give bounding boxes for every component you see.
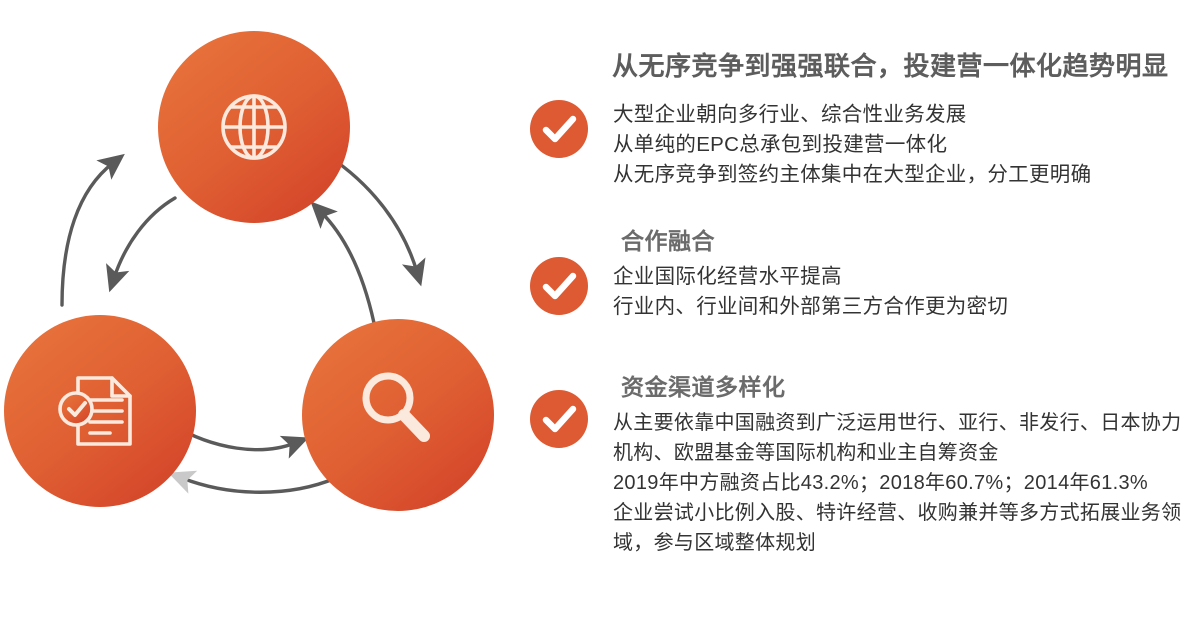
globe-icon [223, 96, 285, 158]
slide-root: 从无序竞争到强强联合，投建营一体化趋势明显 大型企业朝向多行业、综合性业务发展 … [0, 0, 1200, 638]
section-2-line-2: 行业内、行业间和外部第三方合作更为密切 [613, 292, 1008, 322]
section-2-heading: 合作融合 [621, 222, 1008, 256]
section-3-line-3: 2019年中方融资占比43.2%；2018年60.7%；2014年61.3% [613, 468, 1181, 498]
cycle-diagram [0, 0, 520, 638]
section-3-line-2: 机构、欧盟基金等国际机构和业主自筹资金 [613, 438, 1181, 468]
arrow-globe-to-doc [114, 198, 175, 278]
section-2-texts: 合作融合 企业国际化经营水平提高 行业内、行业间和外部第三方合作更为密切 [613, 222, 1008, 322]
section-1-texts: 大型企业朝向多行业、综合性业务发展 从单纯的EPC总承包到投建营一体化 从无序竞… [613, 100, 1091, 190]
section-3-line-5: 域，参与区域整体规划 [613, 528, 1181, 558]
check-icon [530, 100, 588, 158]
section-3-line-1: 从主要依靠中国融资到广泛运用世行、亚行、非发行、日本协力 [613, 408, 1181, 438]
page-title: 从无序竞争到强强联合，投建营一体化趋势明显 [612, 46, 1169, 83]
diagram-node-globe [158, 31, 350, 223]
content-panel: 从无序竞争到强强联合，投建营一体化趋势明显 大型企业朝向多行业、综合性业务发展 … [510, 0, 1200, 638]
section-3-texts: 资金渠道多样化 从主要依靠中国融资到广泛运用世行、亚行、非发行、日本协力 机构、… [613, 368, 1181, 558]
arrow-search-to-doc [182, 478, 336, 492]
diagram-node-document [4, 315, 196, 507]
arrow-globe-to-search [327, 155, 417, 272]
check-icon [530, 257, 588, 315]
arrow-doc-to-globe [62, 163, 113, 305]
section-2-line-1: 企业国际化经营水平提高 [613, 262, 1008, 292]
section-1-line-3: 从无序竞争到签约主体集中在大型企业，分工更明确 [613, 160, 1091, 190]
arrow-search-to-globe [321, 212, 374, 323]
section-3-line-4: 企业尝试小比例入股、特许经营、收购兼并等多方式拓展业务领 [613, 498, 1181, 528]
section-3-heading: 资金渠道多样化 [621, 368, 1181, 402]
check-icon [530, 390, 588, 448]
section-1-line-2: 从单纯的EPC总承包到投建营一体化 [613, 130, 1091, 160]
section-1-line-1: 大型企业朝向多行业、综合性业务发展 [613, 100, 1091, 130]
diagram-node-search [302, 319, 494, 511]
